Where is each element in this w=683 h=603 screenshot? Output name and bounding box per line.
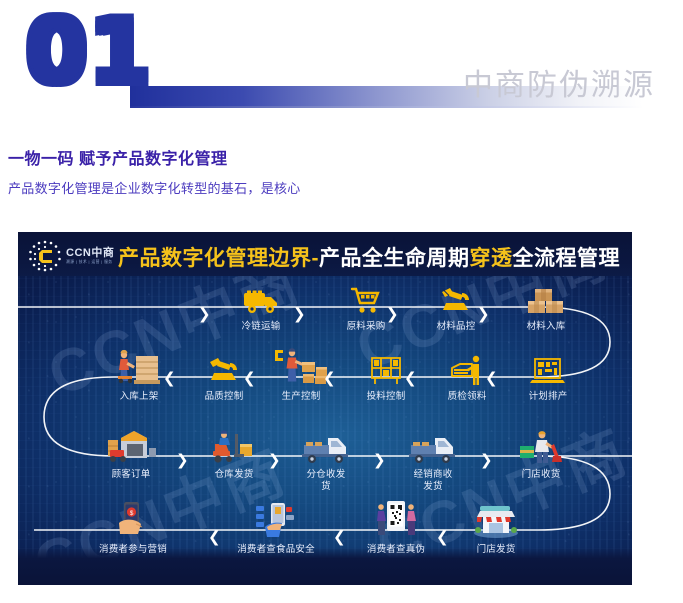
flow-arrow-right: ❯ — [386, 307, 399, 322]
flow-arrow-left: ❮ — [333, 530, 346, 545]
ccn-logo-subtext: 溯源 | 技术 | 运营 | 服务 — [66, 261, 114, 265]
flow-node[interactable]: 门店发货 — [453, 497, 539, 556]
flow-node[interactable]: 原料采购 — [323, 274, 409, 333]
section-headline: 一物一码 赋予产品数字化管理 — [8, 145, 227, 169]
flow-arrow-right: ❯ — [477, 307, 490, 322]
flow-arrow-left: ❮ — [404, 371, 417, 386]
flow-node-label: 门店发货 — [453, 544, 539, 556]
flow-node-label: 入库上架 — [96, 391, 182, 403]
phone-scan-icon — [233, 497, 319, 539]
flow-node-label: 冷链运输 — [218, 321, 304, 333]
storefront-icon — [453, 497, 539, 539]
flow-node[interactable]: 消费者查食品安全 — [233, 497, 319, 556]
flow-node[interactable]: 材料入库 — [503, 274, 589, 333]
flow-node-label: 门店收货 — [498, 469, 584, 481]
flow-arrow-left: ❮ — [436, 530, 449, 545]
flow-node-label: 顾客订单 — [88, 469, 174, 481]
warehouse-icon — [88, 422, 174, 464]
delivery-truck-icon — [283, 422, 369, 464]
flow-arrow-right: ❯ — [176, 453, 189, 468]
flow-node-label: 仓库发货 — [191, 469, 277, 481]
flow-arrow-right: ❯ — [198, 307, 211, 322]
infographic-title-part: 全流程管理 — [513, 247, 621, 270]
page-root: 01 中商防伪溯源 一物一码 赋予产品数字化管理 产品数字化管理是企业数字化转型… — [0, 0, 683, 603]
ccn-logo-text: CCN中商 — [66, 248, 114, 259]
flow-arrow-right: ❯ — [268, 453, 281, 468]
flow-node[interactable]: 冷链运输 — [218, 274, 304, 333]
flow-node-label: 消费者查食品安全 — [233, 544, 319, 556]
header-gradient-edge — [130, 106, 643, 108]
flow-node[interactable]: 顾客订单 — [88, 422, 174, 481]
flow-node[interactable]: $ 消费者参与营销 — [90, 497, 176, 556]
laptop-plan-icon — [505, 344, 591, 386]
section-number: 01 — [26, 8, 152, 96]
flow-arrow-right: ❯ — [293, 307, 306, 322]
flow-node[interactable]: 门店收货 — [498, 422, 584, 481]
flow-node[interactable]: 计划排产 — [505, 344, 591, 403]
courier-icon — [498, 422, 584, 464]
flow-arrow-left: ❮ — [163, 371, 176, 386]
flow-arrow-left: ❮ — [208, 530, 221, 545]
flow-node-label: 质检领料 — [424, 391, 510, 403]
flow-node-label: 材料入库 — [503, 321, 589, 333]
infographic-panel: CCN中商 CCN中商 CCN中商 CCN中商 CCN中商 — [18, 232, 632, 585]
section-subline: 产品数字化管理是企业数字化转型的基石，是核心 — [8, 178, 301, 197]
flow-node[interactable]: 材料品控 — [413, 274, 499, 333]
infographic-title: 产品数字化管理边界-产品全生命周期穿透全流程管理 — [118, 242, 620, 272]
flow-node-label: 计划排产 — [505, 391, 591, 403]
flow-arrow-left: ❮ — [323, 371, 336, 386]
flow-node-label: 消费者参与营销 — [90, 544, 176, 556]
flow-node[interactable]: 仓库发货 — [191, 422, 277, 481]
flow-node[interactable]: 经销商收 发货 — [390, 422, 476, 493]
delivery-truck-icon — [390, 422, 476, 464]
truck-icon — [218, 274, 304, 316]
svg-text:$: $ — [130, 510, 134, 517]
flow-arrow-left: ❮ — [485, 371, 498, 386]
forklift-icon — [191, 422, 277, 464]
boxes-icon — [503, 274, 589, 316]
flow-arrow-left: ❮ — [243, 371, 256, 386]
flow-node-label: 品质控制 — [181, 391, 267, 403]
flow-node-label: 生产控制 — [258, 391, 344, 403]
infographic-title-part: 产品数字化管理边界- — [118, 247, 319, 270]
flow-node[interactable]: 消费者查真伪 — [353, 497, 439, 556]
flow-node-label: 投料控制 — [343, 391, 429, 403]
qr-scan-icon — [353, 497, 439, 539]
ccn-dot-c-icon — [28, 240, 62, 272]
flow-node-label: 分仓收发 货 — [283, 469, 369, 493]
flow-node-label: 消费者查真伪 — [353, 544, 439, 556]
page-header: 01 中商防伪溯源 — [0, 0, 683, 128]
infographic-title-part: 产品全生命周期 — [319, 247, 470, 270]
flow-arrow-right: ❯ — [480, 453, 493, 468]
infographic-title-part: 穿透 — [470, 247, 513, 270]
flow-arrow-right: ❯ — [373, 453, 386, 468]
flow-node-label: 经销商收 发货 — [390, 469, 476, 493]
ccn-logo: CCN中商 溯源 | 技术 | 运营 | 服务 — [28, 240, 114, 272]
brand-title: 中商防伪溯源 — [463, 60, 655, 104]
flow-node[interactable]: 分仓收发 货 — [283, 422, 369, 493]
phone-coupon-icon: $ — [90, 497, 176, 539]
